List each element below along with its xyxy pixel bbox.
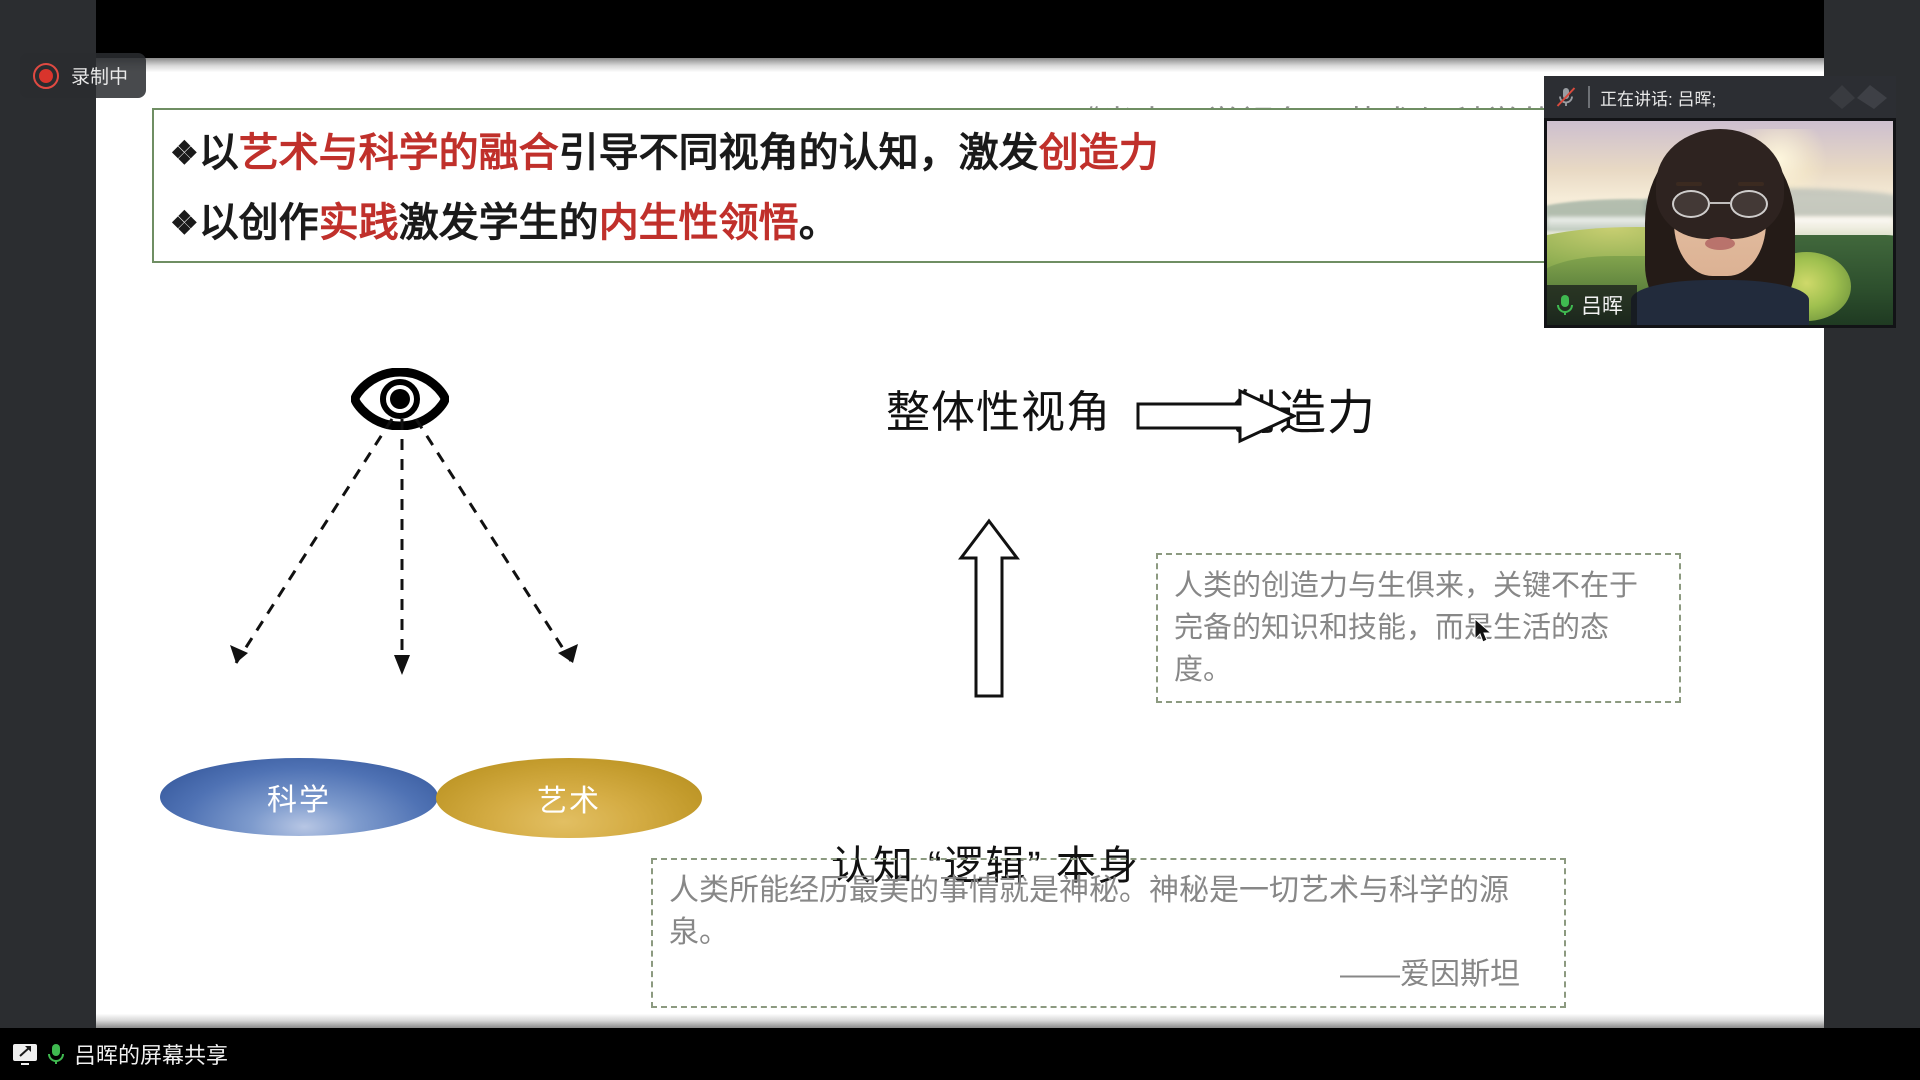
- bullet-marker-icon: ❖: [170, 135, 199, 171]
- speaker-video-panel[interactable]: 正在讲话: 吕晖;: [1544, 76, 1896, 328]
- quote-bottom-attrib: ——爱因斯坦: [669, 954, 1548, 996]
- quote-bottom-text: 人类所能经历最美的事情就是神秘。神秘是一切艺术与科学的源泉。: [669, 874, 1509, 949]
- quote-box-creativity: 人类的创造力与生俱来，关键不在于完备的知识和技能，而是生活的态度。: [1156, 553, 1681, 703]
- screen-share-label: 吕晖的屏幕共享: [74, 1038, 228, 1070]
- recording-badge[interactable]: 录制中: [20, 53, 146, 98]
- ellipse-art-label: 艺术: [537, 776, 601, 820]
- speaking-label: 正在讲话: 吕晖;: [1600, 85, 1716, 110]
- mic-active-icon[interactable]: [47, 1042, 65, 1066]
- toolbar-divider: [1588, 86, 1590, 108]
- glasses-icon: [1672, 190, 1768, 218]
- quote-top-text: 人类的创造力与生俱来，关键不在于完备的知识和技能，而是生活的态度。: [1174, 570, 1638, 686]
- bullet-box: ❖以艺术与科学的融合引导不同视角的认知，激发创造力 ❖以创作实践激发学生的内生性…: [152, 108, 1552, 263]
- left-rail: [0, 0, 96, 1080]
- mic-active-icon: [1556, 294, 1574, 316]
- mic-muted-icon[interactable]: [1554, 85, 1578, 109]
- bullet-line-1: ❖以艺术与科学的融合引导不同视角的认知，激发创造力: [170, 118, 1550, 188]
- participant-name-tag: 吕晖: [1547, 285, 1637, 325]
- participant-name: 吕晖: [1581, 290, 1623, 320]
- screen-share-icon[interactable]: [12, 1043, 38, 1065]
- app-window: 《光电子学视角下艺术与科学的融合 • 实践》 ❖以艺术与科学的融合引导不同视角的…: [0, 0, 1920, 1080]
- ellipse-science-label: 科学: [267, 775, 331, 819]
- screen-share-status-bar: 吕晖的屏幕共享: [0, 1028, 1920, 1080]
- letterbox-top: [96, 0, 1824, 58]
- recording-label: 录制中: [71, 62, 128, 89]
- bullet-line-2: ❖以创作实践激发学生的内生性领悟。: [170, 188, 1550, 258]
- speaker-video-toolbar[interactable]: 正在讲话: 吕晖;: [1544, 76, 1896, 118]
- quote-box-einstein: 人类所能经历最美的事情就是神秘。神秘是一切艺术与科学的源泉。 ——爱因斯坦: [651, 858, 1566, 1008]
- participant-avatar: [1641, 121, 1799, 325]
- mouse-cursor: [1474, 618, 1492, 644]
- sight-rays: [206, 413, 726, 703]
- record-dot-icon: [33, 63, 59, 89]
- bullet-marker-icon: ❖: [170, 205, 199, 241]
- capture-band-top: [96, 58, 1824, 72]
- holistic-view-label: 整体性视角: [886, 376, 1111, 440]
- brand-logo-icon: [1828, 83, 1888, 111]
- speaker-video-feed[interactable]: 吕晖: [1544, 118, 1896, 328]
- ellipse-science: 科学: [160, 758, 438, 836]
- arrow-right-icon: [1136, 388, 1296, 444]
- ellipse-art: 艺术: [436, 758, 702, 838]
- arrow-up-icon: [958, 518, 1020, 698]
- capture-band-bottom: [96, 1014, 1824, 1028]
